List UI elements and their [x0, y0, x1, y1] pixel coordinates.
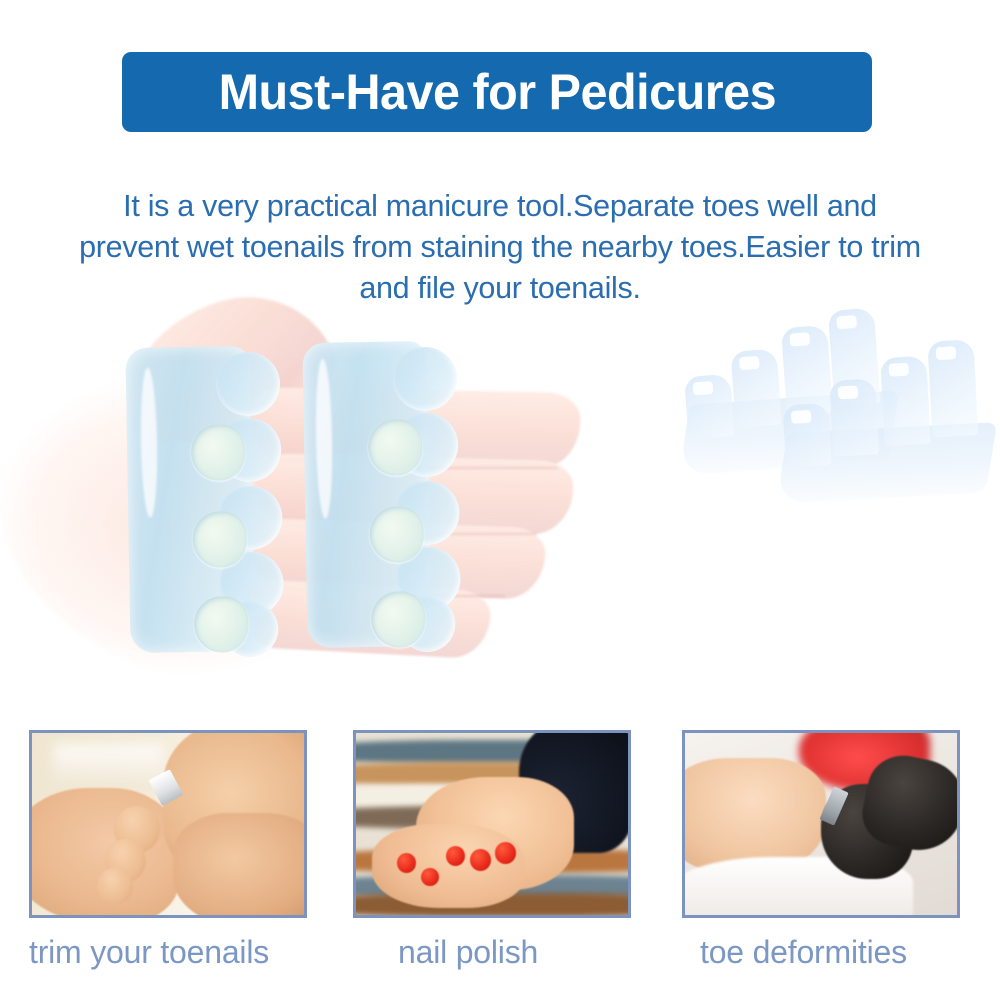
- foot-shape: [372, 824, 524, 908]
- photo-nail-polish: [356, 733, 628, 915]
- separator-prong: [880, 356, 931, 446]
- photo-backdrop-blur: [54, 744, 163, 791]
- pad-toe-hole: [368, 419, 423, 476]
- toe-shape: [97, 868, 132, 904]
- red-toenail: [397, 853, 416, 873]
- thumbnail-nail-polish: [353, 730, 631, 918]
- red-toenail: [446, 846, 465, 866]
- red-toenail: [421, 868, 439, 886]
- page-title: Must-Have for Pedicures: [218, 67, 776, 117]
- toe-separator-pad-left: [125, 346, 254, 653]
- hero-image: [0, 285, 1000, 710]
- separator-prong: [684, 374, 734, 439]
- caption-trim-toenails: trim your toenails: [29, 930, 269, 974]
- title-banner: Must-Have for Pedicures: [122, 52, 872, 132]
- photo-toe-deformities: [685, 733, 957, 915]
- toe-separator-pad-right: [302, 341, 431, 648]
- photo-trim-toenails: [32, 733, 304, 915]
- toe-separator-loose-front: [777, 358, 994, 504]
- caption-toe-deformities: toe deformities: [700, 930, 907, 974]
- thumbnail-strip: [0, 730, 1000, 925]
- red-toenail: [470, 849, 490, 871]
- separator-prong: [730, 349, 781, 428]
- pad-toe-hole: [191, 424, 246, 481]
- thumbnail-trim-toenails: [29, 730, 307, 918]
- hand-shape: [173, 813, 304, 915]
- separator-prong: [927, 339, 978, 437]
- pad-toe-hole: [194, 596, 249, 653]
- thumbnail-toe-deformities: [682, 730, 960, 918]
- caption-nail-polish: nail polish: [398, 930, 538, 974]
- pad-toe-hole: [192, 511, 247, 568]
- separator-prong: [829, 378, 879, 456]
- pad-toe-hole: [369, 506, 424, 563]
- separator-prong: [783, 403, 832, 467]
- pad-toe-hole: [371, 591, 426, 648]
